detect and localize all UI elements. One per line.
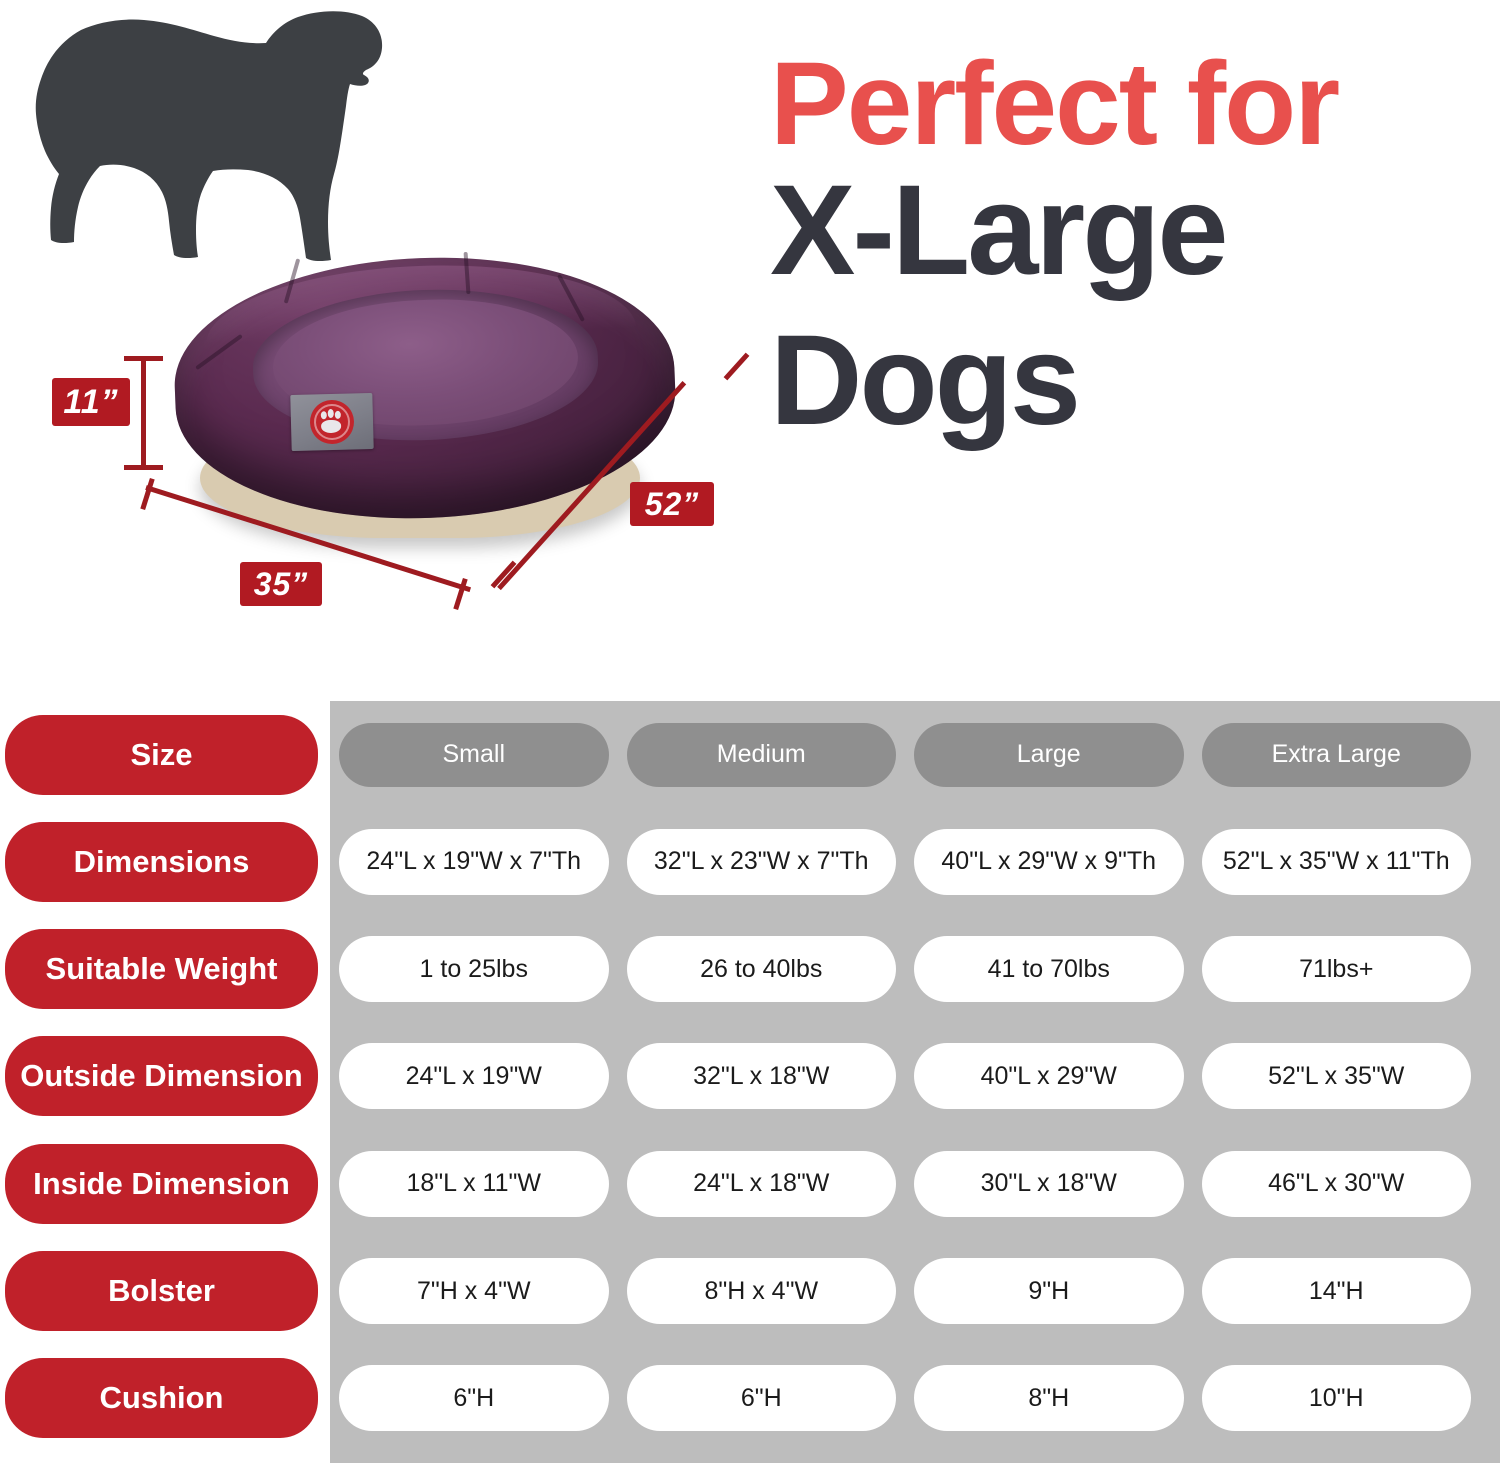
cell-weight-medium: 26 to 40lbs	[627, 936, 897, 1002]
column-header-medium: Medium	[627, 723, 897, 787]
headline-line-1: Perfect for	[770, 52, 1490, 156]
cell-bolster-small: 7"H x 4"W	[339, 1258, 609, 1324]
height-callout-label: 11”	[52, 378, 130, 426]
height-tick-top	[124, 356, 163, 361]
cell-cushion-extra-large: 10"H	[1202, 1365, 1472, 1431]
cell-outside-small: 24"L x 19"W	[339, 1043, 609, 1109]
spec-table-grid: Size Small Medium Large Extra Large Dime…	[0, 690, 1500, 1463]
cell-bolster-medium: 8"H x 4"W	[627, 1258, 897, 1324]
cell-inside-medium: 24"L x 18"W	[627, 1151, 897, 1217]
table-row-label-cell: Dimensions	[0, 808, 330, 915]
cell-inside-extra-large: 46"L x 30"W	[1202, 1151, 1472, 1217]
brand-tag	[290, 393, 373, 451]
table-row: 30"L x 18"W	[905, 1130, 1193, 1237]
row-label-inside-dimension: Inside Dimension	[5, 1144, 318, 1224]
cell-outside-large: 40"L x 29"W	[914, 1043, 1184, 1109]
table-row: 24"L x 19"W x 7"Th	[330, 808, 618, 915]
table-row-label-cell: Bolster	[0, 1237, 330, 1344]
cell-weight-extra-large: 71lbs+	[1202, 936, 1472, 1002]
table-row: 14"H	[1193, 1237, 1481, 1344]
width-callout-label: 35”	[240, 562, 322, 606]
table-row: 46"L x 30"W	[1193, 1130, 1481, 1237]
table-row: 32"L x 23"W x 7"Th	[618, 808, 906, 915]
table-row: 26 to 40lbs	[618, 916, 906, 1023]
table-row-label-cell: Outside Dimension	[0, 1023, 330, 1130]
table-row: 24"L x 19"W	[330, 1023, 618, 1130]
cell-bolster-large: 9"H	[914, 1258, 1184, 1324]
row-label-suitable-weight: Suitable Weight	[5, 929, 318, 1009]
table-row: 8"H	[905, 1345, 1193, 1452]
cell-bolster-extra-large: 14"H	[1202, 1258, 1472, 1324]
cell-outside-medium: 32"L x 18"W	[627, 1043, 897, 1109]
hero-section: 11” 35” 52” Perfect for X-Large Dogs	[0, 0, 1500, 690]
cell-cushion-small: 6"H	[339, 1365, 609, 1431]
row-label-cushion: Cushion	[5, 1358, 318, 1438]
table-row: 9"H	[905, 1237, 1193, 1344]
table-row: 1 to 25lbs	[330, 916, 618, 1023]
product-infographic: 11” 35” 52” Perfect for X-Large Dogs Siz…	[0, 0, 1500, 1463]
cell-weight-small: 1 to 25lbs	[339, 936, 609, 1002]
table-row: 40"L x 29"W x 9"Th	[905, 808, 1193, 915]
cell-cushion-medium: 6"H	[627, 1365, 897, 1431]
cell-inside-large: 30"L x 18"W	[914, 1151, 1184, 1217]
table-row-label-cell: Size	[0, 701, 330, 808]
specification-table: Size Small Medium Large Extra Large Dime…	[0, 690, 1500, 1463]
cell-dimensions-medium: 32"L x 23"W x 7"Th	[627, 829, 897, 895]
column-header-extra-large: Extra Large	[1202, 723, 1472, 787]
brand-tag-ring	[309, 399, 354, 444]
table-row-label-cell: Suitable Weight	[0, 916, 330, 1023]
table-row: 6"H	[618, 1345, 906, 1452]
cell-dimensions-large: 40"L x 29"W x 9"Th	[914, 829, 1184, 895]
table-row: 52"L x 35"W	[1193, 1023, 1481, 1130]
headline-line-2: X-Large	[770, 156, 1490, 306]
length-callout-label: 52”	[630, 482, 714, 526]
row-label-bolster: Bolster	[5, 1251, 318, 1331]
headline-block: Perfect for X-Large Dogs	[770, 52, 1490, 456]
table-header-cell: Medium	[618, 701, 906, 808]
height-dimension-line	[141, 358, 146, 468]
row-label-outside-dimension: Outside Dimension	[5, 1036, 318, 1116]
column-header-large: Large	[914, 723, 1184, 787]
cell-dimensions-small: 24"L x 19"W x 7"Th	[339, 829, 609, 895]
height-tick-bottom	[124, 465, 163, 470]
cell-weight-large: 41 to 70lbs	[914, 936, 1184, 1002]
cell-outside-extra-large: 52"L x 35"W	[1202, 1043, 1472, 1109]
column-header-small: Small	[339, 723, 609, 787]
table-row: 24"L x 18"W	[618, 1130, 906, 1237]
table-row: 32"L x 18"W	[618, 1023, 906, 1130]
table-header-cell: Large	[905, 701, 1193, 808]
table-row: 18"L x 11"W	[330, 1130, 618, 1237]
length-tick-end	[724, 353, 750, 381]
headline-line-3: Dogs	[770, 306, 1490, 456]
table-row: 6"H	[330, 1345, 618, 1452]
table-row: 40"L x 29"W	[905, 1023, 1193, 1130]
table-row: 52"L x 35"W x 11"Th	[1193, 808, 1481, 915]
cell-cushion-large: 8"H	[914, 1365, 1184, 1431]
table-row: 10"H	[1193, 1345, 1481, 1452]
cell-inside-small: 18"L x 11"W	[339, 1151, 609, 1217]
table-row: 8"H x 4"W	[618, 1237, 906, 1344]
table-row-label-cell: Inside Dimension	[0, 1130, 330, 1237]
table-row: 41 to 70lbs	[905, 916, 1193, 1023]
table-row: 7"H x 4"W	[330, 1237, 618, 1344]
width-tick-start	[140, 478, 154, 510]
product-photo	[165, 228, 695, 558]
table-header-cell: Extra Large	[1193, 701, 1481, 808]
row-label-size: Size	[5, 715, 318, 795]
table-header-cell: Small	[330, 701, 618, 808]
table-row-label-cell: Cushion	[0, 1345, 330, 1452]
table-row: 71lbs+	[1193, 916, 1481, 1023]
cell-dimensions-extra-large: 52"L x 35"W x 11"Th	[1202, 829, 1472, 895]
row-label-dimensions: Dimensions	[5, 822, 318, 902]
paw-print-icon	[319, 409, 346, 436]
